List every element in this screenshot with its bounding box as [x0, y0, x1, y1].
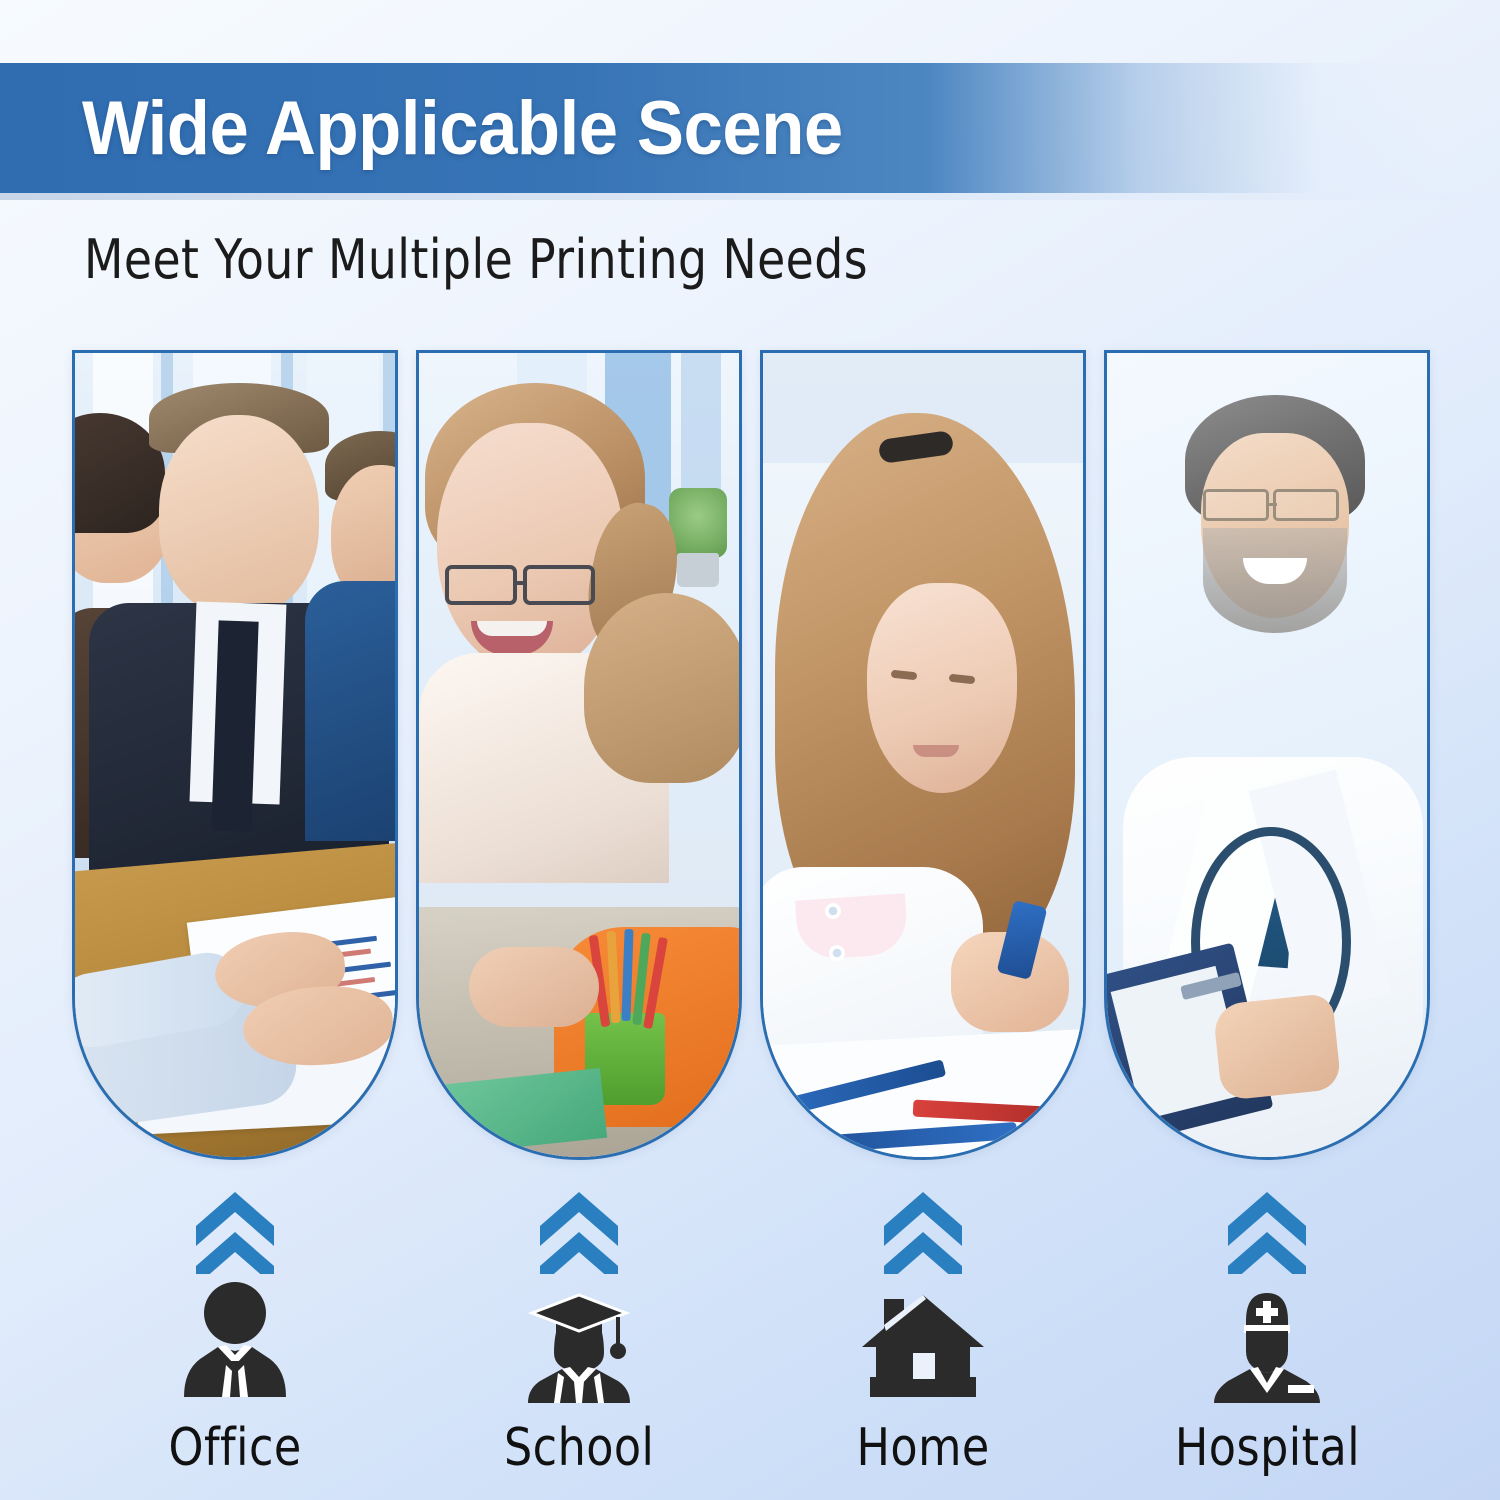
scene-card-office [72, 350, 398, 1160]
double-chevron-up-icon [880, 1188, 966, 1279]
hospital-icon-wrap [1202, 1282, 1332, 1412]
scene-item-hospital: Hospital [1104, 1282, 1430, 1482]
scene-item-home: Home [760, 1282, 1086, 1482]
scene-card-school [416, 350, 742, 1160]
header-banner: Wide Applicable Scene [0, 63, 1500, 193]
chevron-group-school [416, 1188, 742, 1274]
page-subtitle: Meet Your Multiple Printing Needs [84, 228, 868, 291]
chevron-group-hospital [1104, 1188, 1430, 1274]
home-icon-wrap [858, 1282, 988, 1412]
scene-label-row: Office School [72, 1282, 1430, 1482]
scene-card-row [72, 350, 1430, 1160]
businessman-icon [170, 1281, 300, 1412]
scene-item-school: School [416, 1282, 742, 1482]
office-photo [75, 353, 395, 1157]
graduate-icon [514, 1281, 644, 1412]
chevron-group-home [760, 1188, 1086, 1274]
scene-label-office: Office [168, 1418, 301, 1478]
school-icon-wrap [514, 1282, 644, 1412]
scene-label-school: School [504, 1418, 654, 1478]
scene-card-hospital [1104, 350, 1430, 1160]
doctor-icon [1202, 1281, 1332, 1412]
double-chevron-up-icon [536, 1188, 622, 1279]
house-icon [858, 1281, 988, 1412]
school-photo [419, 353, 739, 1157]
home-photo [763, 353, 1083, 1157]
chevron-group-office [72, 1188, 398, 1274]
hospital-photo [1107, 353, 1427, 1157]
scene-card-home [760, 350, 1086, 1160]
scene-label-home: Home [856, 1418, 989, 1478]
double-chevron-up-icon [1224, 1188, 1310, 1279]
chevron-row [72, 1188, 1430, 1274]
page-title: Wide Applicable Scene [82, 85, 843, 172]
scene-item-office: Office [72, 1282, 398, 1482]
scene-label-hospital: Hospital [1174, 1418, 1359, 1478]
double-chevron-up-icon [192, 1188, 278, 1279]
office-icon-wrap [170, 1282, 300, 1412]
